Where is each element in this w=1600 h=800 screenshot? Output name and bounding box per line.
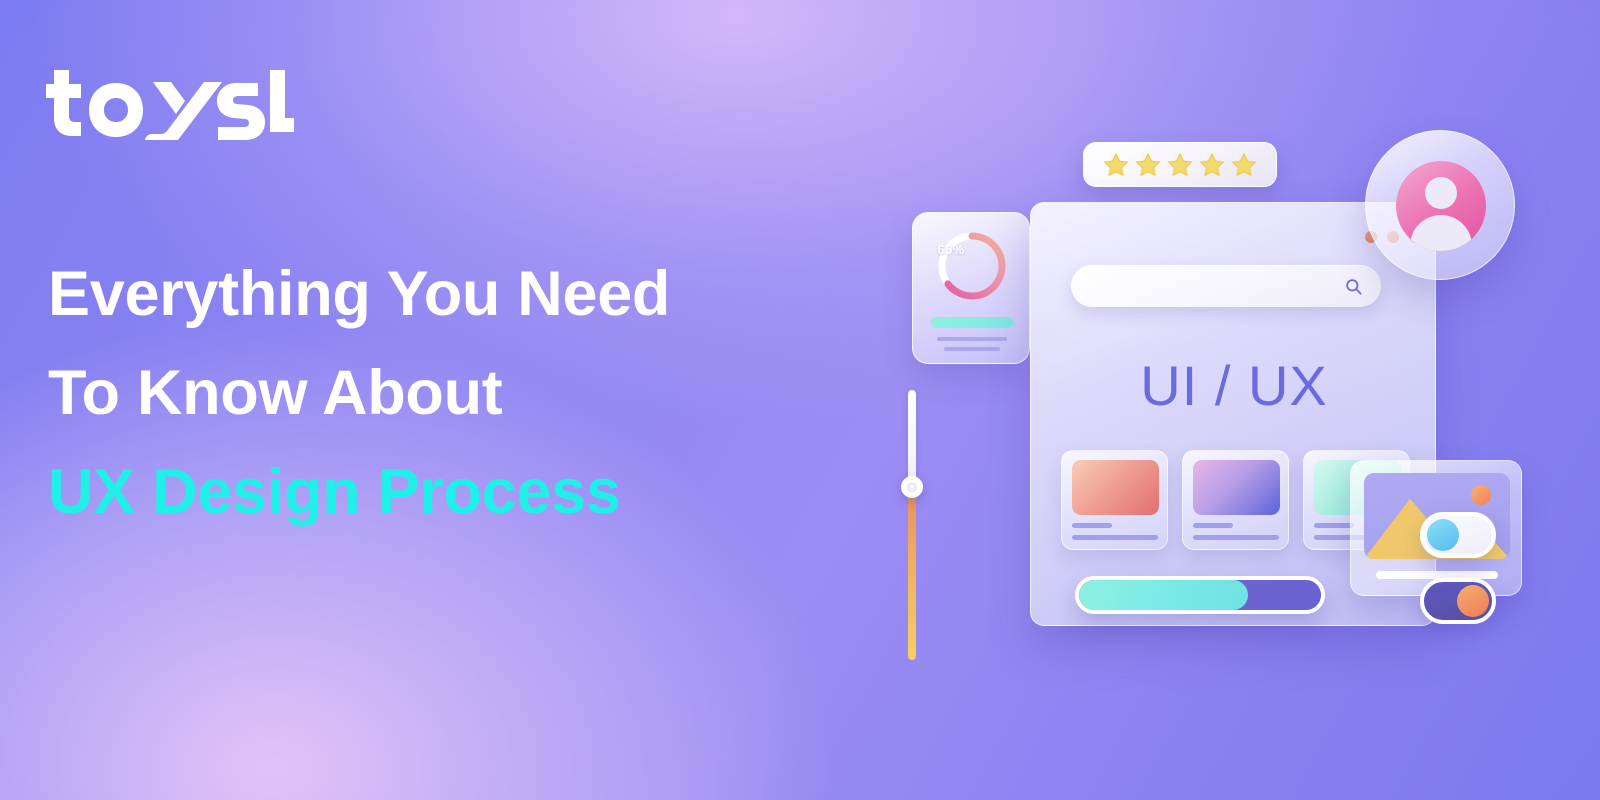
user-avatar — [1365, 130, 1515, 280]
star-icon — [1230, 151, 1258, 179]
mini-card-line-2 — [1193, 535, 1279, 540]
avatar-person-icon — [1396, 161, 1486, 251]
avatar-body — [1410, 215, 1472, 251]
slider-track-fill — [908, 494, 916, 660]
window-title: UI / UX — [1031, 353, 1437, 418]
donut-percent-label: 65% — [913, 242, 989, 257]
star-icon — [1102, 151, 1130, 179]
toggle-knob — [1457, 585, 1489, 617]
toxsl-logo[interactable] — [44, 62, 294, 140]
headline: Everything You Need To Know About UX Des… — [48, 245, 788, 542]
search-input[interactable] — [1071, 265, 1381, 307]
ui-ux-illustration: 65% UI / UX — [880, 130, 1580, 660]
star-icon — [1134, 151, 1162, 179]
headline-line-2: To Know About — [48, 344, 788, 443]
headline-line-3: UX Design Process — [48, 443, 788, 542]
star-icon — [1198, 151, 1226, 179]
donut-progress-card: 65% — [912, 212, 1030, 364]
star-rating — [1083, 142, 1277, 187]
mini-card-red — [1061, 450, 1168, 550]
mini-card-line-2 — [1072, 535, 1158, 540]
stat-pill — [931, 317, 1013, 328]
toggle-on[interactable] — [1420, 512, 1496, 558]
mini-card-line-1 — [1314, 523, 1354, 528]
search-icon — [1344, 277, 1363, 296]
toggle-knob — [1427, 519, 1459, 551]
mini-card-purple — [1182, 450, 1289, 550]
vertical-slider[interactable] — [900, 390, 924, 660]
mini-card-line-1 — [1193, 523, 1233, 528]
stat-line-1 — [937, 337, 1007, 341]
mini-card-line-1 — [1072, 523, 1112, 528]
slider-knob[interactable] — [901, 476, 923, 498]
donut-chart-icon — [934, 228, 1010, 304]
toggle-off[interactable] — [1420, 578, 1496, 624]
star-icon — [1166, 151, 1194, 179]
stat-line-2 — [944, 347, 1000, 351]
mini-card-thumb — [1072, 460, 1159, 515]
avatar-head — [1425, 177, 1457, 209]
progress-bar — [1075, 576, 1325, 614]
progress-bar-fill — [1079, 580, 1248, 610]
headline-line-1: Everything You Need — [48, 245, 788, 344]
mini-card-thumb — [1193, 460, 1280, 515]
